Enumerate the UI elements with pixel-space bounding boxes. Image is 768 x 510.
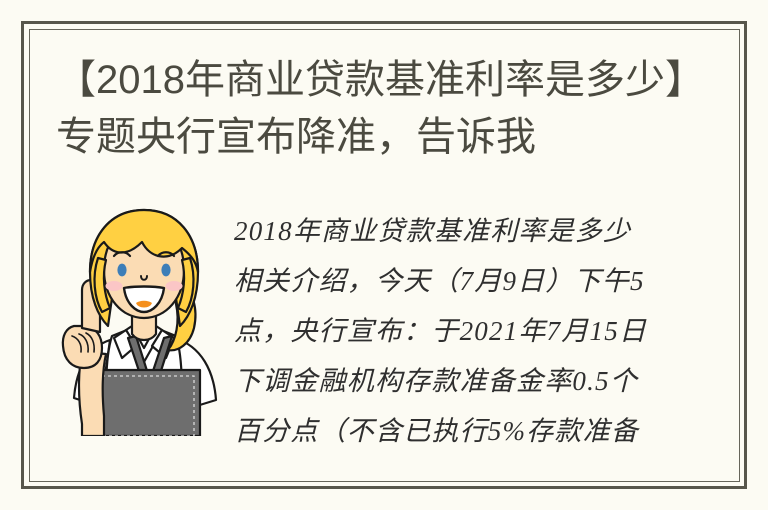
cheek-right — [166, 281, 183, 291]
illustration-svg — [52, 202, 232, 436]
eye-left — [117, 264, 126, 277]
cheek-left — [106, 281, 123, 291]
article-card: 【2018年商业贷款基准利率是多少】专题央行宣布降准，告诉我 — [0, 0, 768, 510]
eye-right — [161, 264, 170, 277]
cartoon-woman-pointing-up-illustration — [52, 202, 232, 436]
article-body-text: 2018年商业贷款基准利率是多少相关介绍，今天（7月9日）下午5点，央行宣布：于… — [234, 206, 654, 456]
apron-body — [96, 370, 200, 436]
fist — [63, 326, 102, 368]
page-title: 【2018年商业贷款基准利率是多少】专题央行宣布降准，告诉我 — [56, 52, 716, 166]
